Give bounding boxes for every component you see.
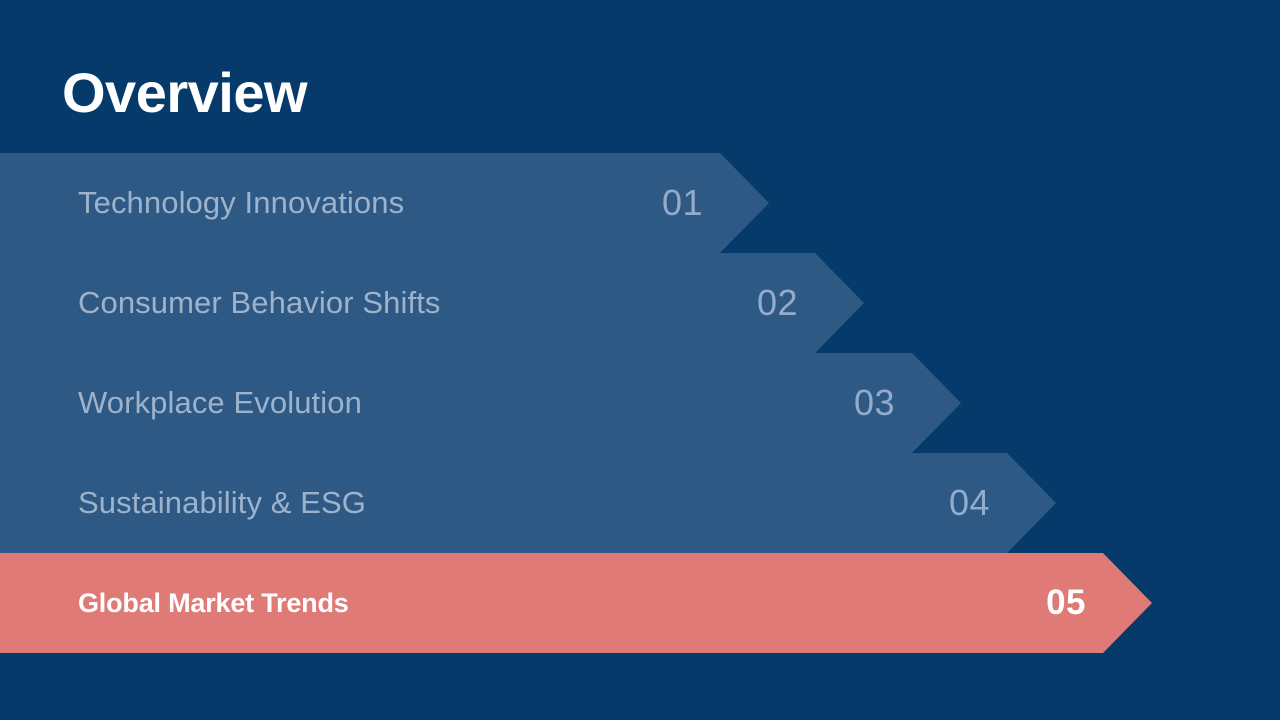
chevron-step-number: 05 (1046, 583, 1086, 623)
chevron-step-label: Global Market Trends (78, 588, 1046, 619)
chevron-step-number: 02 (757, 282, 798, 324)
page-title: Overview (62, 58, 307, 128)
chevron-step-number: 04 (949, 482, 990, 524)
chevron-step-4[interactable]: Sustainability & ESG 04 (0, 453, 1056, 553)
chevron-step-number: 01 (662, 182, 703, 224)
chevron-step-3[interactable]: Workplace Evolution 03 (0, 353, 961, 453)
chevron-step-label: Consumer Behavior Shifts (78, 285, 757, 321)
chevron-step-label: Technology Innovations (78, 185, 662, 221)
chevron-step-1[interactable]: Technology Innovations 01 (0, 153, 769, 253)
chevron-step-2[interactable]: Consumer Behavior Shifts 02 (0, 253, 864, 353)
chevron-step-5[interactable]: Global Market Trends 05 (0, 553, 1152, 653)
chevron-step-label: Workplace Evolution (78, 385, 854, 421)
slide-canvas: Overview Technology Innovations 01 Consu… (0, 0, 1280, 720)
chevron-step-number: 03 (854, 382, 895, 424)
overview-chevron-list: Technology Innovations 01 Consumer Behav… (0, 153, 1280, 655)
chevron-step-label: Sustainability & ESG (78, 485, 949, 521)
